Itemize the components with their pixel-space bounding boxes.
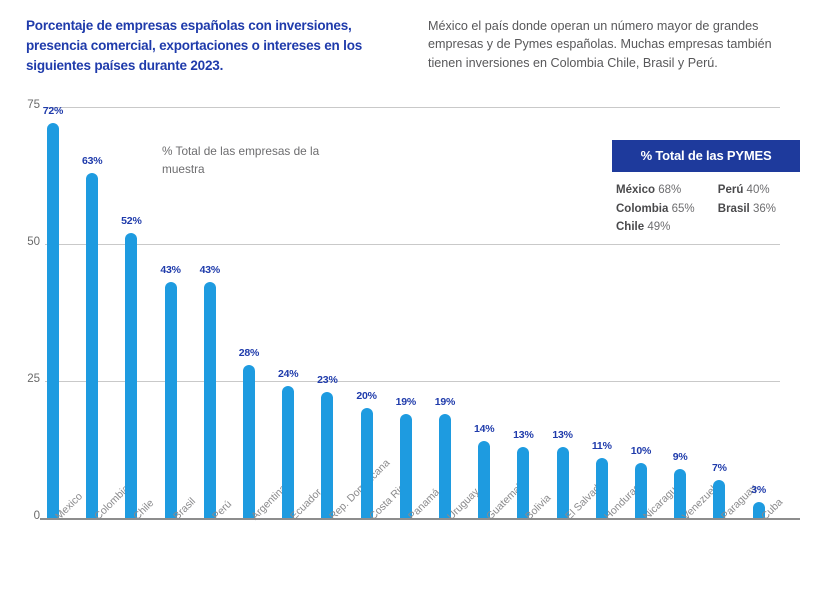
bar[interactable] bbox=[557, 447, 569, 518]
bar-value-label: 72% bbox=[26, 105, 80, 117]
pymes-legend-row: Brasil 36% bbox=[718, 200, 800, 219]
bar[interactable] bbox=[517, 447, 529, 518]
bar-column[interactable]: 63% bbox=[73, 98, 111, 518]
bar-column[interactable]: 19% bbox=[426, 98, 464, 518]
bar[interactable] bbox=[125, 233, 137, 518]
bar[interactable] bbox=[204, 282, 216, 518]
bar[interactable] bbox=[400, 414, 412, 518]
bar-column[interactable]: 52% bbox=[112, 98, 150, 518]
sample-annotation: % Total de las empresas de la muestra bbox=[162, 143, 362, 178]
bar[interactable] bbox=[86, 173, 98, 518]
bar[interactable] bbox=[361, 408, 373, 518]
pymes-country-name: México bbox=[616, 184, 655, 196]
pymes-legend-column-right: Perú 40%Brasil 36% bbox=[718, 181, 800, 237]
pymes-country-name: Brasil bbox=[718, 203, 750, 215]
pymes-country-name: Chile bbox=[616, 221, 644, 233]
pymes-country-value: 68% bbox=[655, 184, 681, 196]
bar-column[interactable]: 14% bbox=[465, 98, 503, 518]
bar[interactable] bbox=[243, 365, 255, 518]
bar-value-label: 3% bbox=[732, 484, 786, 496]
bar-value-label: 23% bbox=[300, 374, 354, 386]
pymes-legend-title: % Total de las PYMES bbox=[612, 140, 800, 172]
bar-chart-plot: 025507572%Mexico63%Colombia52%Chile43%Br… bbox=[0, 0, 820, 610]
bar-column[interactable]: 19% bbox=[387, 98, 425, 518]
bar[interactable] bbox=[165, 282, 177, 518]
bar[interactable] bbox=[282, 386, 294, 518]
pymes-country-value: 40% bbox=[743, 184, 769, 196]
bar-column[interactable]: 13% bbox=[504, 98, 542, 518]
pymes-country-value: 49% bbox=[644, 221, 670, 233]
pymes-legend-row: Chile 49% bbox=[616, 218, 718, 237]
bar-value-label: 28% bbox=[222, 347, 276, 359]
bar-column[interactable]: 13% bbox=[544, 98, 582, 518]
pymes-legend-column-left: México 68%Colombia 65%Chile 49% bbox=[616, 181, 718, 237]
bar-value-label: 43% bbox=[183, 264, 237, 276]
pymes-legend-body: México 68%Colombia 65%Chile 49% Perú 40%… bbox=[612, 172, 800, 237]
pymes-legend-box: % Total de las PYMES México 68%Colombia … bbox=[612, 140, 800, 237]
bar-value-label: 52% bbox=[104, 215, 158, 227]
bar-value-label: 19% bbox=[418, 396, 472, 408]
pymes-legend-row: México 68% bbox=[616, 181, 718, 200]
bar-value-label: 7% bbox=[692, 462, 746, 474]
pymes-country-name: Perú bbox=[718, 184, 744, 196]
bar[interactable] bbox=[321, 392, 333, 518]
pymes-country-name: Colombia bbox=[616, 203, 668, 215]
pymes-legend-row: Colombia 65% bbox=[616, 200, 718, 219]
pymes-legend-row: Perú 40% bbox=[718, 181, 800, 200]
bar-value-label: 63% bbox=[65, 155, 119, 167]
pymes-country-value: 65% bbox=[668, 203, 694, 215]
bar[interactable] bbox=[478, 441, 490, 518]
pymes-country-value: 36% bbox=[750, 203, 776, 215]
bar[interactable] bbox=[439, 414, 451, 518]
bar[interactable] bbox=[47, 123, 59, 518]
